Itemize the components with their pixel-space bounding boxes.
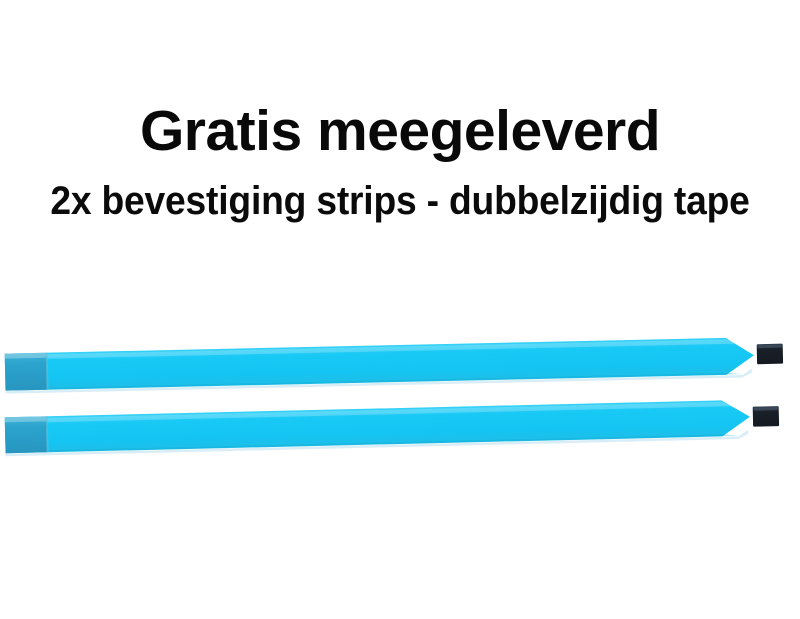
adhesive-strip-lower-graphic <box>0 394 800 454</box>
adhesive-strip-upper <box>0 330 800 390</box>
adhesive-strip-upper-graphic <box>0 330 800 390</box>
strip-dark-tip-highlight <box>754 407 778 411</box>
strip-dark-tip-highlight <box>758 345 782 349</box>
strip-pull-tab-highlight <box>5 416 47 422</box>
adhesive-strip-lower <box>0 394 800 454</box>
page-title: Gratis meegeleverd <box>0 103 800 160</box>
strip-pull-tab-highlight <box>5 353 47 359</box>
promo-image-canvas: Gratis meegeleverd 2x bevestiging strips… <box>0 0 800 619</box>
page-subtitle: 2x bevestiging strips - dubbelzijdig tap… <box>28 181 772 221</box>
